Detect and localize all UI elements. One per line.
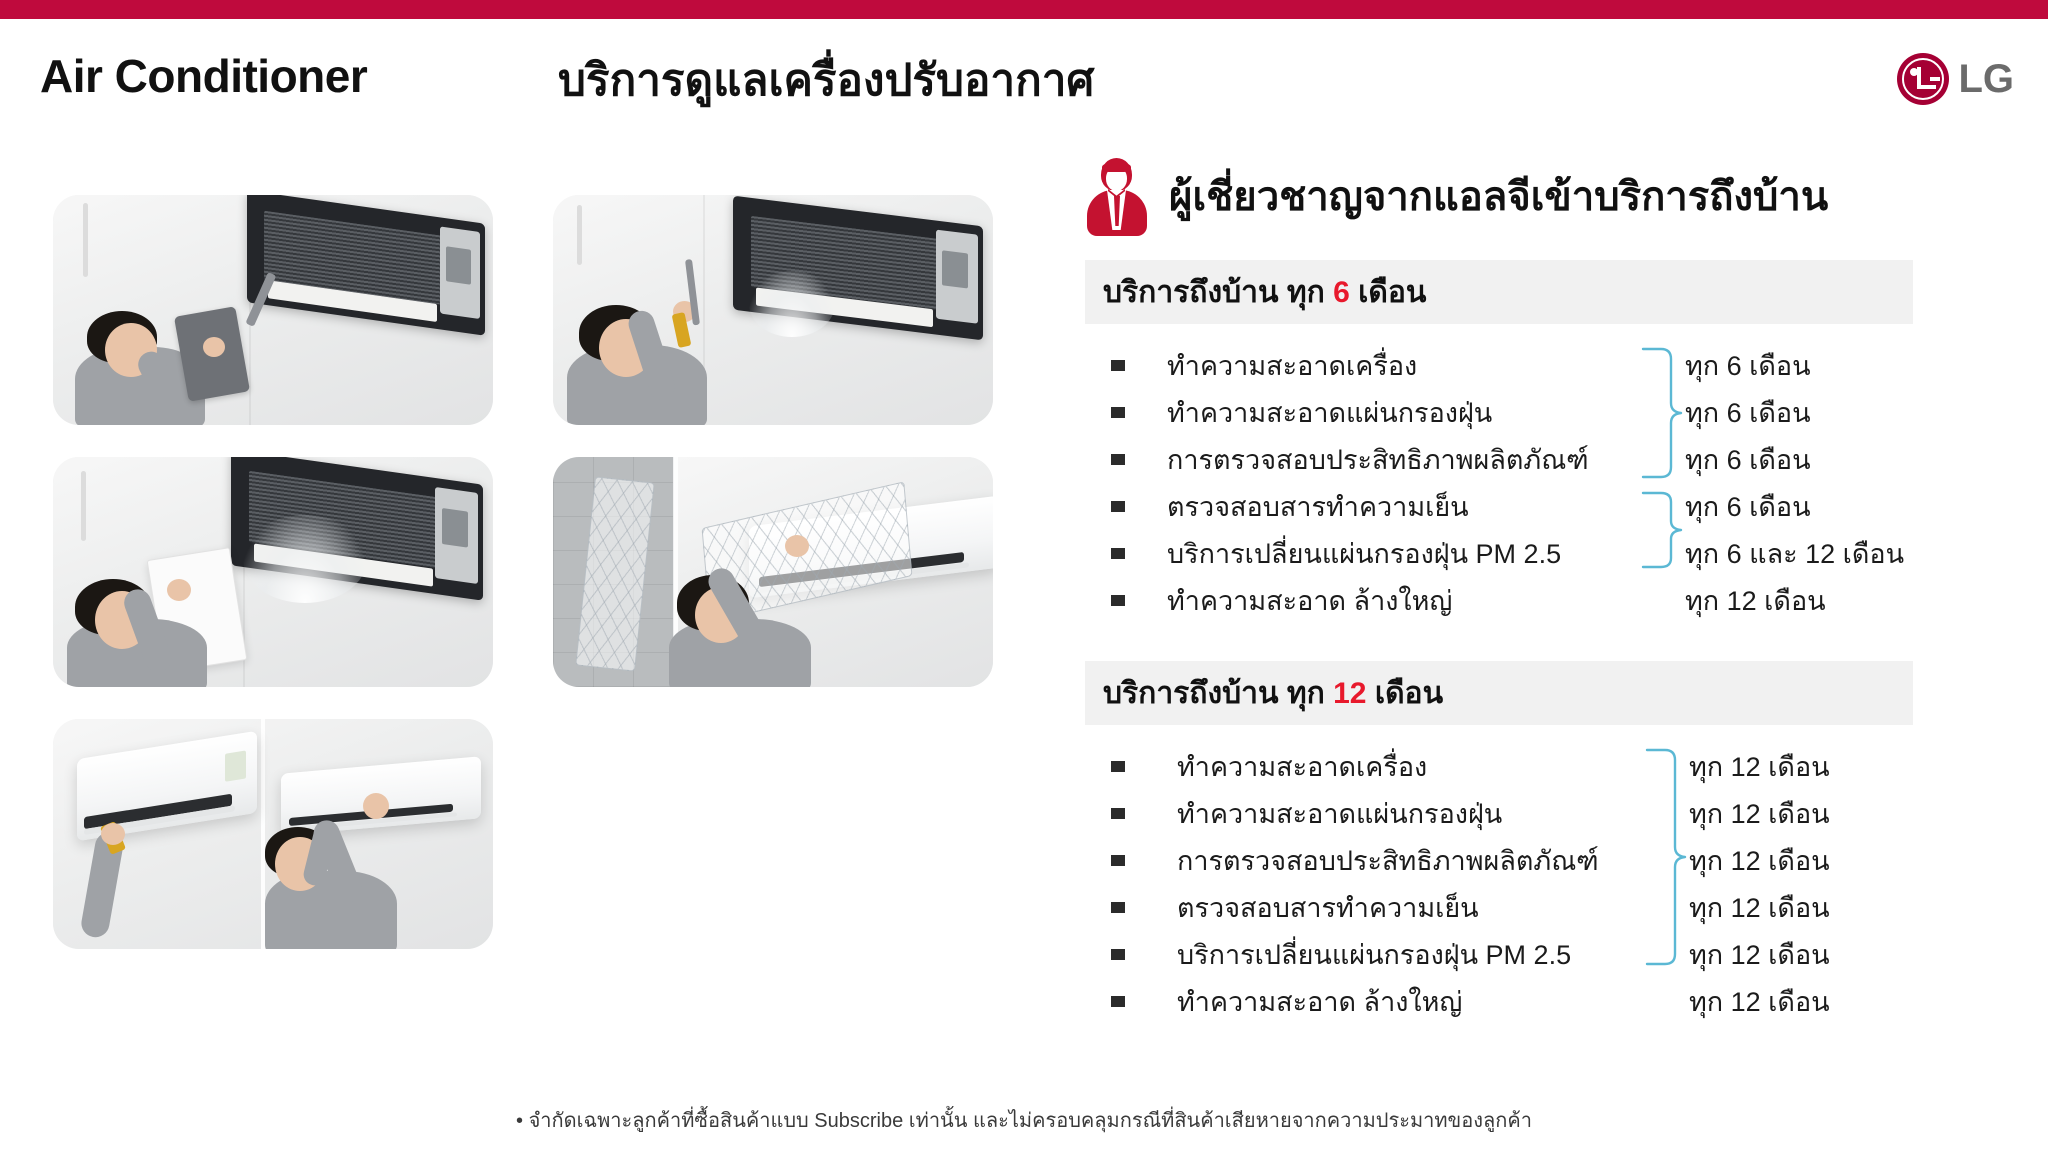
photo-technician-vacuuming	[53, 195, 493, 425]
section-header-prefix: บริการถึงบ้าน ทุก	[1103, 276, 1333, 309]
section-every-12-months: บริการถึงบ้าน ทุก 12 เดือน ทำความสะอาดเค…	[1085, 661, 2010, 1028]
service-label: ทำความสะอาด ล้างใหญ่	[1177, 980, 1462, 1023]
service-frequency: ทุก 6 เดือน	[1685, 438, 1811, 481]
service-row: การตรวจสอบประสิทธิภาพผลิตภัณฑ์ ทุก 6 เดื…	[1085, 436, 2010, 483]
service-frequency: ทุก 6 เดือน	[1685, 391, 1811, 434]
service-label: การตรวจสอบประสิทธิภาพผลิตภัณฑ์	[1177, 839, 1599, 882]
service-label: ทำความสะอาดแผ่นกรองฝุ่น	[1167, 391, 1492, 434]
service-label: ทำความสะอาดเครื่อง	[1177, 745, 1427, 788]
section-header-number: 12	[1333, 677, 1366, 710]
page-header: Air Conditioner บริการดูแลเครื่องปรับอาก…	[0, 19, 2048, 129]
service-label: บริการเปลี่ยนแผ่นกรองฝุ่น PM 2.5	[1177, 933, 1571, 976]
service-label: ทำความสะอาด ล้างใหญ่	[1167, 579, 1452, 622]
service-label: การตรวจสอบประสิทธิภาพผลิตภัณฑ์	[1167, 438, 1589, 481]
bullet-icon	[1111, 548, 1125, 559]
lg-circle-icon	[1897, 53, 1949, 105]
bullet-icon	[1111, 996, 1125, 1007]
bullet-icon	[1111, 761, 1125, 772]
service-photo-grid	[53, 195, 993, 1130]
service-row: การตรวจสอบประสิทธิภาพผลิตภัณฑ์ ทุก 12 เด…	[1085, 837, 2010, 884]
service-row: ตรวจสอบสารทำความเย็น ทุก 6 เดือน	[1085, 483, 2010, 530]
service-frequency: ทุก 12 เดือน	[1685, 579, 1826, 622]
service-expert-icon	[1085, 156, 1149, 236]
service-frequency: ทุก 12 เดือน	[1689, 980, 1830, 1023]
service-frequency: ทุก 12 เดือน	[1689, 886, 1830, 929]
photo-technician-steam-cleaning	[53, 457, 493, 687]
expert-headline: ผู้เชี่ยวชาญจากแอลจีเข้าบริการถึงบ้าน	[1085, 150, 2010, 242]
service-frequency: ทุก 12 เดือน	[1689, 933, 1830, 976]
service-list-12-months: ทำความสะอาดเครื่อง ทุก 12 เดือน ทำความสะ…	[1085, 743, 2010, 1028]
service-row: ทำความสะอาดเครื่อง ทุก 12 เดือน	[1085, 743, 2010, 790]
page-title-thai: บริการดูแลเครื่องปรับอากาศ	[558, 45, 1094, 115]
bullet-icon	[1111, 595, 1125, 606]
photo-filter-replacement	[553, 457, 993, 687]
service-label: บริการเปลี่ยนแผ่นกรองฝุ่น PM 2.5	[1167, 532, 1561, 575]
service-details-column: ผู้เชี่ยวชาญจากแอลจีเข้าบริการถึงบ้าน บร…	[1085, 150, 2010, 1028]
service-row: ทำความสะอาดแผ่นกรองฝุ่น ทุก 6 เดือน	[1085, 389, 2010, 436]
service-frequency: ทุก 6 เดือน	[1685, 344, 1811, 387]
service-frequency: ทุก 6 เดือน	[1685, 485, 1811, 528]
service-label: ตรวจสอบสารทำความเย็น	[1177, 886, 1479, 929]
service-frequency: ทุก 6 และ 12 เดือน	[1685, 532, 1904, 575]
service-row: ทำความสะอาดแผ่นกรองฝุ่น ทุก 12 เดือน	[1085, 790, 2010, 837]
service-frequency: ทุก 12 เดือน	[1689, 792, 1830, 835]
lg-logo: LG	[1897, 53, 2014, 105]
section-header-12-months: บริการถึงบ้าน ทุก 12 เดือน	[1085, 661, 1913, 725]
bullet-icon	[1111, 808, 1125, 819]
service-frequency: ทุก 12 เดือน	[1689, 839, 1830, 882]
photo-technician-spraying-coil	[553, 195, 993, 425]
expert-headline-text: ผู้เชี่ยวชาญจากแอลจีเข้าบริการถึงบ้าน	[1169, 164, 1828, 228]
lg-wordmark: LG	[1958, 59, 2014, 99]
page-title-english: Air Conditioner	[40, 49, 367, 103]
service-row: บริการเปลี่ยนแผ่นกรองฝุ่น PM 2.5 ทุก 6 แ…	[1085, 530, 2010, 577]
bullet-icon	[1111, 360, 1125, 371]
service-row: ทำความสะอาด ล้างใหญ่ ทุก 12 เดือน	[1085, 978, 2010, 1025]
service-label: ทำความสะอาดเครื่อง	[1167, 344, 1417, 387]
bullet-icon	[1111, 949, 1125, 960]
section-header-suffix: เดือน	[1366, 677, 1443, 710]
service-row: บริการเปลี่ยนแผ่นกรองฝุ่น PM 2.5 ทุก 12 …	[1085, 931, 2010, 978]
service-row: ตรวจสอบสารทำความเย็น ทุก 12 เดือน	[1085, 884, 2010, 931]
section-header-6-months: บริการถึงบ้าน ทุก 6 เดือน	[1085, 260, 1913, 324]
footnote-disclaimer: • จำกัดเฉพาะลูกค้าที่ซื้อสินค้าแบบ Subsc…	[0, 1104, 2048, 1136]
section-header-prefix: บริการถึงบ้าน ทุก	[1103, 677, 1333, 710]
service-row: ทำความสะอาด ล้างใหญ่ ทุก 12 เดือน	[1085, 577, 2010, 624]
bullet-icon	[1111, 855, 1125, 866]
top-accent-bar	[0, 0, 2048, 19]
bullet-icon	[1111, 454, 1125, 465]
bullet-icon	[1111, 407, 1125, 418]
photo-final-inspection	[53, 719, 493, 949]
bullet-icon	[1111, 902, 1125, 913]
service-list-6-months: ทำความสะอาดเครื่อง ทุก 6 เดือน ทำความสะอ…	[1085, 342, 2010, 627]
section-header-number: 6	[1333, 276, 1350, 309]
service-row: ทำความสะอาดเครื่อง ทุก 6 เดือน	[1085, 342, 2010, 389]
service-frequency: ทุก 12 เดือน	[1689, 745, 1830, 788]
bullet-icon	[1111, 501, 1125, 512]
service-label: ตรวจสอบสารทำความเย็น	[1167, 485, 1469, 528]
service-label: ทำความสะอาดแผ่นกรองฝุ่น	[1177, 792, 1502, 835]
section-header-suffix: เดือน	[1350, 276, 1427, 309]
section-every-6-months: บริการถึงบ้าน ทุก 6 เดือน ทำความสะอาดเคร…	[1085, 260, 2010, 627]
